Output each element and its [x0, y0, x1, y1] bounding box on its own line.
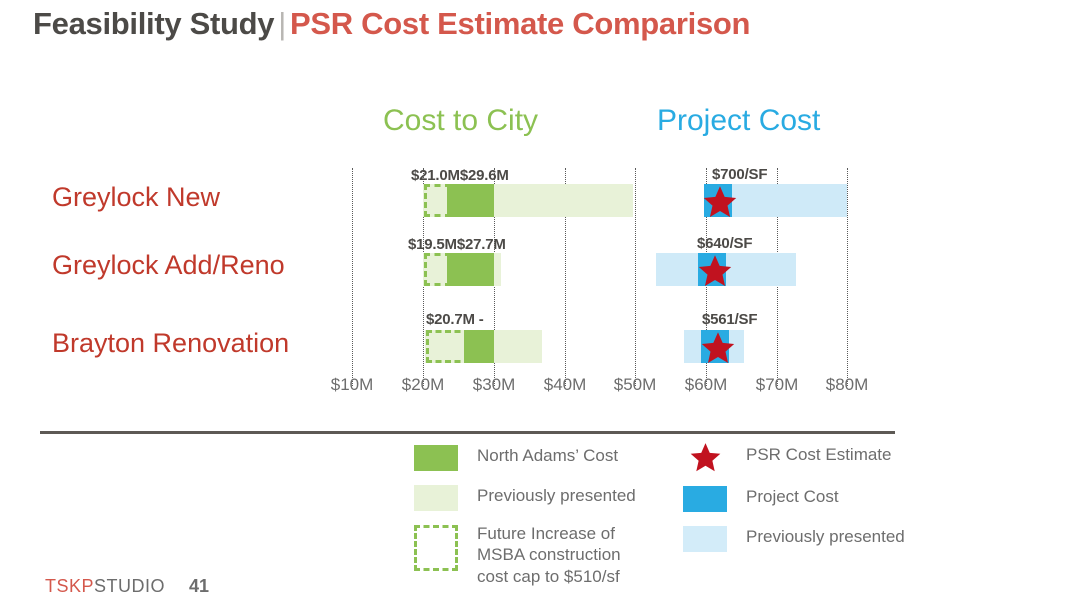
page-number: 41	[189, 576, 209, 596]
axis-tick-30m: $30M	[473, 375, 516, 395]
axis-tick-20m: $20M	[402, 375, 445, 395]
column-header-cost-to-city: Cost to City	[383, 104, 538, 138]
legend-swatch-blue-light-icon	[683, 526, 727, 552]
gridline-10m	[352, 168, 353, 386]
legend-swatch-blue-solid-icon	[683, 486, 727, 512]
bar-greylock-add-reno-msba-increase	[424, 253, 451, 286]
axis-tick-70m: $70M	[756, 375, 799, 395]
legend-label: Project Cost	[746, 486, 839, 507]
psr-cost-estimate-star-icon	[700, 330, 736, 366]
brand-name-studio: STUDIO	[94, 576, 165, 596]
axis-tick-50m: $50M	[614, 375, 657, 395]
legend-item-project-cost: Project Cost	[683, 486, 839, 512]
legend-item-previously-presented-blue: Previously presented	[683, 526, 905, 552]
title-dark-part: Feasibility Study	[33, 6, 274, 41]
column-header-project-cost: Project Cost	[657, 104, 820, 138]
value-label-brayton-renovation-sf: $561/SF	[702, 312, 756, 328]
title-separator: |	[274, 6, 290, 41]
row-label-greylock-add-reno: Greylock Add/Reno	[52, 250, 285, 281]
bar-greylock-new-msba-increase	[424, 184, 451, 217]
legend-item-previously-presented-green: Previously presented	[414, 485, 636, 511]
axis-tick-60m: $60M	[685, 375, 728, 395]
legend-label: PSR Cost Estimate	[746, 444, 892, 465]
value-label-greylock-add-reno-cost: $19.5M$27.7M	[408, 236, 506, 253]
legend-label: North Adams’ Cost	[477, 445, 618, 466]
brand-name-tskp: TSKP	[45, 576, 94, 596]
axis-tick-40m: $40M	[544, 375, 587, 395]
value-label-greylock-add-reno-sf: $640/SF	[697, 236, 751, 252]
section-divider	[40, 431, 895, 434]
legend-label: Previously presented	[477, 485, 636, 506]
legend-label: Future Increase of MSBA construction cos…	[477, 523, 652, 587]
gridline-80m	[847, 168, 848, 386]
legend-swatch-green-light-icon	[414, 485, 458, 511]
value-label-greylock-new-cost: $21.0M$29.6M	[411, 167, 509, 184]
bar-greylock-new-north-adams-cost	[447, 184, 494, 217]
psr-cost-estimate-star-icon	[702, 184, 738, 220]
bar-greylock-add-reno-north-adams-cost	[447, 253, 494, 286]
legend-label: Previously presented	[746, 526, 905, 547]
legend-item-north-adams-cost: North Adams’ Cost	[414, 445, 618, 471]
bar-brayton-renovation-msba-increase	[426, 330, 470, 363]
psr-cost-estimate-star-icon	[697, 253, 733, 289]
gridline-50m	[635, 168, 636, 386]
axis-tick-80m: $80M	[826, 375, 869, 395]
footer: TSKPSTUDIO41	[45, 576, 209, 597]
slide: Feasibility Study|PSR Cost Estimate Comp…	[0, 0, 1089, 612]
legend-item-msba-cost-cap-increase: Future Increase of MSBA construction cos…	[414, 523, 652, 587]
legend-star-icon	[683, 444, 727, 470]
chart-plot-area: Greylock New $21.0M$29.6M $700/SF Greylo…	[0, 160, 1089, 390]
row-label-brayton-renovation: Brayton Renovation	[52, 328, 289, 359]
title-red-part: PSR Cost Estimate Comparison	[290, 6, 750, 41]
value-label-greylock-new-sf: $700/SF	[712, 167, 766, 183]
legend-swatch-green-solid-icon	[414, 445, 458, 471]
axis-tick-10m: $10M	[331, 375, 374, 395]
row-label-greylock-new: Greylock New	[52, 182, 220, 213]
legend-item-psr-cost-estimate: PSR Cost Estimate	[683, 444, 892, 470]
page-title: Feasibility Study|PSR Cost Estimate Comp…	[33, 6, 750, 42]
legend-swatch-green-dashed-icon	[414, 525, 458, 571]
